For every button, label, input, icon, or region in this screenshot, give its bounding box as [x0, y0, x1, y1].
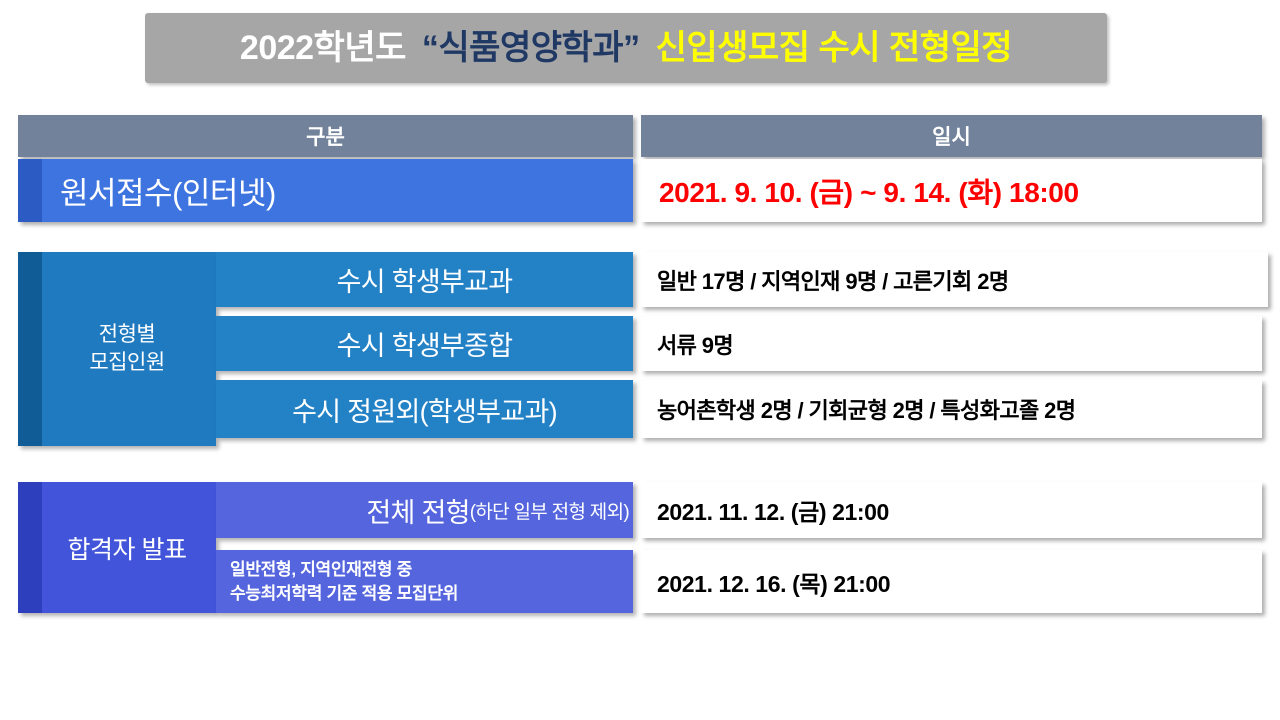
- quota-group-label-line2: 모집인원: [89, 351, 164, 374]
- quota-subtype-2: 수시 학생부종합: [216, 316, 633, 371]
- table-header-row: 구분 일시: [18, 115, 1262, 157]
- title-part-year: 2022학년도: [240, 29, 406, 67]
- application-label-cell: 원서접수(인터넷): [18, 159, 633, 222]
- quota-value-2-text: 서류 9명: [657, 328, 733, 360]
- announcement-date-1-text: 2021. 11. 12. (금) 21:00: [657, 493, 889, 527]
- quota-value-1: 일반 17명 / 지역인재 9명 / 고른기회 2명: [641, 252, 1268, 307]
- application-date-cell: 2021. 9. 10. (금) ~ 9. 14. (화) 18:00: [641, 159, 1262, 222]
- application-label-text: 원서접수(인터넷): [60, 168, 276, 213]
- quota-subtype-1: 수시 학생부교과: [216, 252, 633, 307]
- quota-group-label-line1: 전형별: [99, 323, 155, 346]
- announcement-date-1: 2021. 11. 12. (금) 21:00: [641, 482, 1262, 538]
- announcement-subtype-1-note: (하단 일부 전형 제외): [470, 497, 629, 524]
- quota-group-label-cell: 전형별모집인원: [18, 252, 216, 446]
- announcement-subtype-2-line2: 수능최저학력 기준 적용 모집단위: [230, 582, 633, 605]
- table-group-quota: 전형별모집인원 수시 학생부교과 일반 17명 / 지역인재 9명 / 고른기회…: [18, 252, 1262, 446]
- announcement-subtype-1: 전체 전형(하단 일부 전형 제외): [216, 482, 633, 538]
- quota-value-1-text: 일반 17명 / 지역인재 9명 / 고른기회 2명: [657, 264, 1008, 296]
- quota-group-label-text: 전형별모집인원: [89, 321, 164, 378]
- announcement-group-label-text: 합격자 발표: [68, 530, 187, 566]
- quota-value-3-text: 농어촌학생 2명 / 기회균형 2명 / 특성화고졸 2명: [657, 393, 1075, 425]
- announcement-subtype-1-main: 전체 전형: [366, 491, 469, 530]
- quota-value-2: 서류 9명: [641, 316, 1262, 371]
- header-cell-category: 구분: [18, 115, 633, 157]
- announcement-subtype-2-line1: 일반전형, 지역인재전형 중: [230, 558, 633, 581]
- table-group-announcement: 합격자 발표 전체 전형(하단 일부 전형 제외) 2021. 11. 12. …: [18, 482, 1262, 613]
- slide-title-banner: 2022학년도“식품영양학과”신입생모집 수시 전형일정: [145, 13, 1107, 83]
- announcement-date-2: 2021. 12. 16. (목) 21:00: [641, 550, 1262, 613]
- announcement-date-2-text: 2021. 12. 16. (목) 21:00: [657, 565, 890, 599]
- quota-value-3: 농어촌학생 2명 / 기회균형 2명 / 특성화고졸 2명: [641, 380, 1262, 438]
- announcement-group-label-cell: 합격자 발표: [18, 482, 216, 613]
- title-part-department: “식품영양학과”: [422, 29, 640, 67]
- title-part-rest: 신입생모집 수시 전형일정: [656, 29, 1012, 67]
- quota-subtype-3: 수시 정원외(학생부교과): [216, 380, 633, 438]
- header-cell-date: 일시: [641, 115, 1262, 157]
- table-row-application: 원서접수(인터넷) 2021. 9. 10. (금) ~ 9. 14. (화) …: [18, 159, 1262, 222]
- slide-title-text: 2022학년도“식품영양학과”신입생모집 수시 전형일정: [240, 31, 1012, 65]
- announcement-subtype-2: 일반전형, 지역인재전형 중 수능최저학력 기준 적용 모집단위: [216, 550, 633, 613]
- application-date-text: 2021. 9. 10. (금) ~ 9. 14. (화) 18:00: [659, 171, 1079, 211]
